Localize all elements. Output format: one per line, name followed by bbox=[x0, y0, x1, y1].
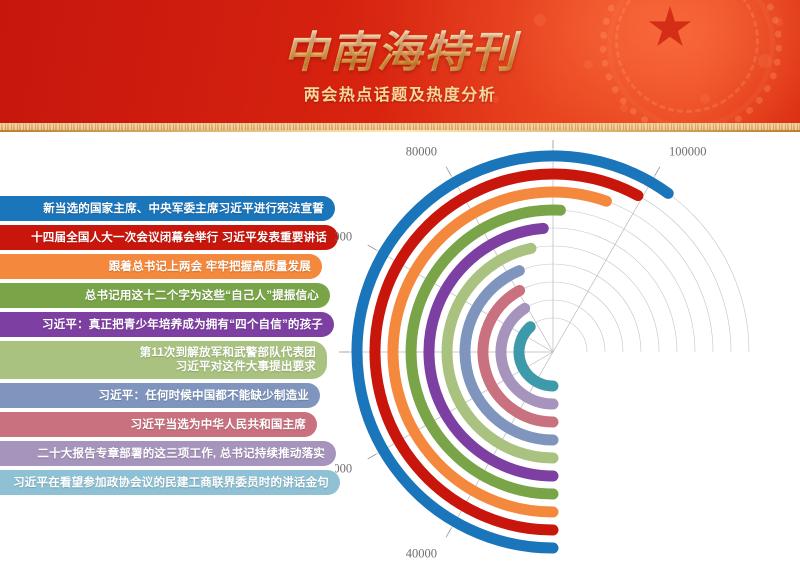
axis-tick-mark bbox=[446, 529, 451, 538]
legend-item-label: 习近平在看望参加政协会议的民建工商联界委员时的讲话金句 bbox=[13, 476, 329, 490]
axis-tick-label: 80000 bbox=[406, 145, 437, 159]
legend-item[interactable]: 二十大报告专章部署的这三项工作, 总书记持续推动落实 bbox=[0, 441, 336, 466]
bokeh-dot bbox=[620, 104, 628, 112]
legend-item[interactable]: 习近平在看望参加政协会议的民建工商联界委员时的讲话金句 bbox=[0, 470, 340, 495]
header-text-block: 中南海特刊 两会热点话题及热度分析 bbox=[0, 0, 800, 105]
axis-tick-mark bbox=[368, 454, 377, 459]
legend-item[interactable]: 跟着总书记上两会 牢牢把握高质量发展 bbox=[0, 254, 322, 279]
page-subtitle: 两会热点话题及热度分析 bbox=[0, 85, 800, 105]
legend-item-label: 十四届全国人大一次会议闭幕会举行 习近平发表重要讲话 bbox=[31, 231, 327, 245]
gold-divider bbox=[0, 123, 800, 130]
radial-bar-chart: 400005000060000700008000090000100000 bbox=[335, 140, 800, 565]
page-title: 中南海特刊 bbox=[0, 28, 800, 78]
axis-tick-label: 70000 bbox=[335, 230, 352, 244]
chart-bar[interactable] bbox=[519, 327, 553, 386]
gold-divider-thin bbox=[0, 130, 800, 132]
axis-tick-label: 40000 bbox=[406, 546, 437, 560]
axis-tick-mark bbox=[446, 167, 451, 176]
legend-item-label: 习近平：任何时候中国都不能缺少制造业 bbox=[98, 389, 309, 403]
legend-item-label: 跟着总书记上两会 牢牢把握高质量发展 bbox=[109, 260, 311, 274]
axis-tick-label: 50000 bbox=[335, 462, 352, 476]
legend-item[interactable]: 总书记用这十二个字为这些“自己人”提振信心 bbox=[0, 283, 330, 308]
radial-bar-chart-svg: 400005000060000700008000090000100000 bbox=[335, 140, 800, 565]
poster-header: 中南海特刊 两会热点话题及热度分析 bbox=[0, 0, 800, 132]
legend-item-label: 习近平：真正把青少年培养成为拥有“四个自信”的孩子 bbox=[42, 318, 323, 332]
legend-item[interactable]: 习近平：任何时候中国都不能缺少制造业 bbox=[0, 383, 320, 408]
poster-page: 中南海特刊 两会热点话题及热度分析 新当选的国家主席、中央军委主席习近平进行宪法… bbox=[0, 0, 800, 572]
legend-item-label: 新当选的国家主席、中央军委主席习近平进行宪法宣誓 bbox=[43, 202, 324, 216]
legend-list: 新当选的国家主席、中央军委主席习近平进行宪法宣誓十四届全国人大一次会议闭幕会举行… bbox=[0, 196, 340, 499]
legend-item-label: 总书记用这十二个字为这些“自己人”提振信心 bbox=[85, 289, 319, 303]
legend-item[interactable]: 习近平：真正把青少年培养成为拥有“四个自信”的孩子 bbox=[0, 312, 334, 337]
axis-tick-label: 100000 bbox=[669, 145, 707, 159]
legend-item[interactable]: 十四届全国人大一次会议闭幕会举行 习近平发表重要讲话 bbox=[0, 225, 338, 250]
legend-item[interactable]: 第11次到解放军和武警部队代表团 习近平对这件大事提出要求 bbox=[0, 341, 327, 379]
legend-item-label: 习近平当选为中华人民共和国主席 bbox=[131, 418, 307, 432]
axis-tick-mark bbox=[655, 167, 660, 176]
legend-item-label: 二十大报告专章部署的这三项工作, 总书记持续推动落实 bbox=[37, 447, 325, 461]
legend-item[interactable]: 习近平当选为中华人民共和国主席 bbox=[0, 412, 317, 437]
axis-tick-mark bbox=[368, 245, 377, 250]
legend-item[interactable]: 新当选的国家主席、中央军委主席习近平进行宪法宣誓 bbox=[0, 196, 335, 221]
legend-item-label: 第11次到解放军和武警部队代表团 习近平对这件大事提出要求 bbox=[140, 346, 316, 374]
